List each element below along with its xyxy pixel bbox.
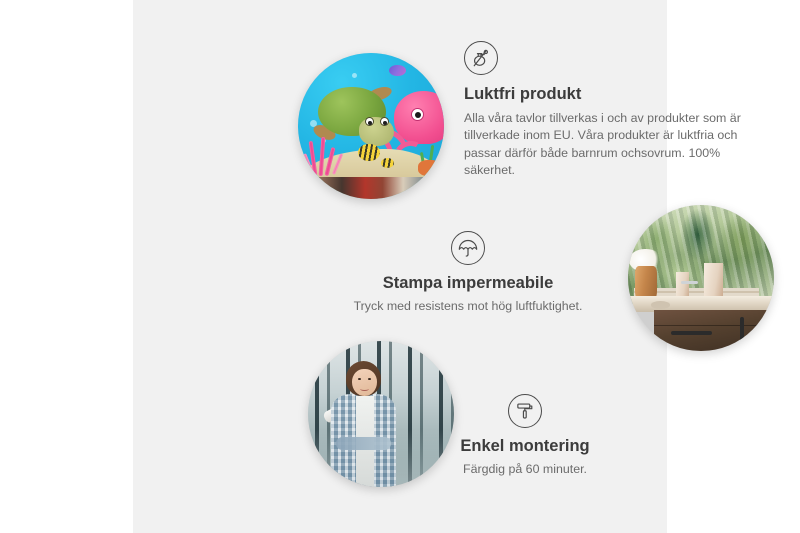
feature-description: Alla våra tavlor tillverkas i och av pro… (464, 110, 764, 180)
feature-title: Enkel montering (381, 436, 669, 457)
bathroom-scene (628, 205, 774, 351)
feature-title: Luktfri produkt (464, 84, 764, 105)
face (352, 369, 377, 397)
product-feature-page: Luktfri produkt Alla våra tavlor tillver… (0, 0, 800, 533)
turtle-eye (380, 117, 389, 126)
feature-title: Stampa impermeabile (318, 273, 618, 294)
soap-dish (651, 301, 670, 308)
coral-icon (307, 135, 354, 176)
paint-roller-icon (508, 394, 542, 428)
feature-waterproof: Stampa impermeabile Tryck med resistens … (318, 231, 618, 315)
ocean-scene (298, 53, 444, 199)
wooden-vanity (654, 310, 774, 351)
umbrella-icon (451, 231, 485, 265)
starfish-icon (418, 160, 441, 176)
smile (360, 386, 369, 390)
feature-description: Färgdig på 60 minuter. (381, 461, 669, 479)
photo-ocean-kids-mural[interactable] (298, 53, 444, 199)
no-odour-spray-bottle-icon (464, 41, 498, 75)
eye (368, 378, 371, 380)
room-foreground-strip (298, 177, 444, 199)
feature-panel: Luktfri produkt Alla våra tavlor tillver… (133, 0, 667, 533)
faucet-icon (681, 281, 699, 284)
octopus-eye (411, 108, 424, 121)
feature-odour-free: Luktfri produkt Alla våra tavlor tillver… (464, 41, 764, 180)
feature-description: Tryck med resistens mot hög luftfuktighe… (318, 298, 618, 316)
drawer-seam (654, 325, 774, 327)
yellow-fish-icon (358, 144, 380, 162)
cabinet-handle (740, 317, 744, 341)
drawer-handle (671, 331, 712, 335)
feature-easy-mounting: Enkel montering Färgdig på 60 minuter. (381, 394, 669, 478)
eye (358, 378, 361, 380)
photo-bathroom-botanical-mural[interactable] (628, 205, 774, 351)
